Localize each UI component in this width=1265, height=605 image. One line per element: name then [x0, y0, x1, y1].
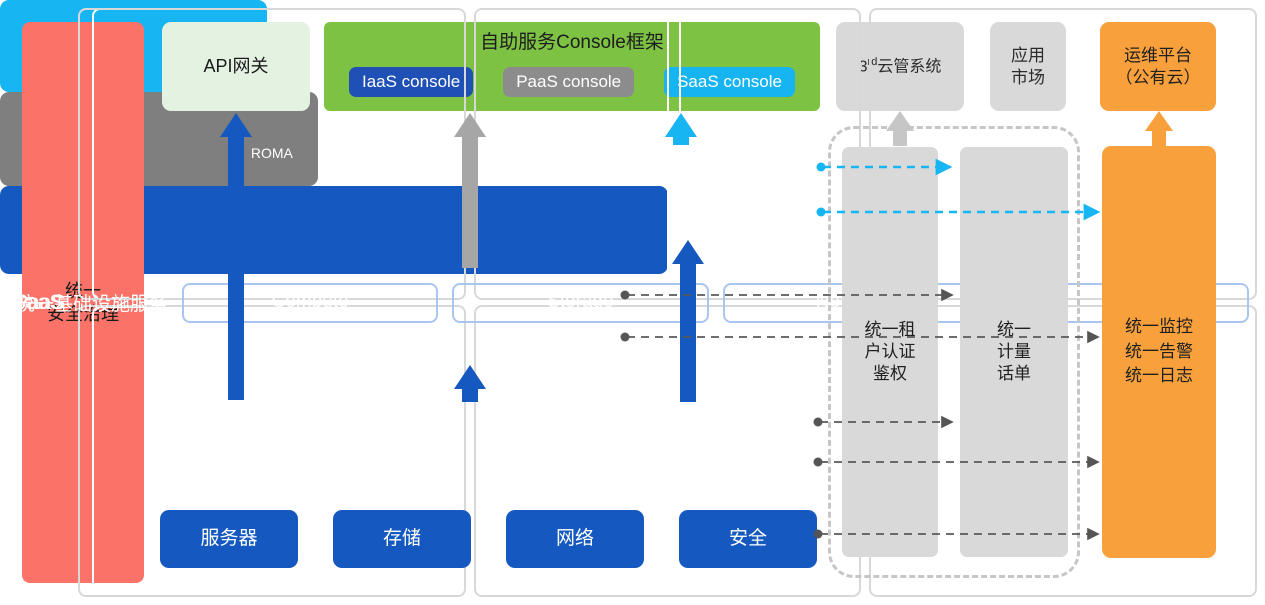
iaas-layer-box: 统一基础设施服务 Compute Storage Network CCE	[0, 186, 668, 274]
meter-line1: 统一	[997, 319, 1031, 341]
unified-tenant-auth-column: 统一租 户认证 鉴权	[842, 147, 938, 557]
architecture-diagram: 统一 安全治理 API网关 自助服务Console框架 IaaS console…	[0, 0, 1265, 605]
ops-right-line3: 统一日志	[1125, 364, 1193, 389]
infra-box-network: 网络	[506, 510, 644, 568]
iaas-service-storage[interactable]: Storage	[452, 283, 708, 323]
meter-line2: 计量	[997, 341, 1031, 363]
unified-metering-column: 统一 计量 话单	[960, 147, 1068, 557]
auth-line2: 户认证	[865, 341, 916, 363]
infra-box-server: 服务器	[160, 510, 298, 568]
unified-monitoring-column: 统一监控 统一告警 统一日志	[1102, 146, 1216, 558]
meter-line3: 话单	[997, 363, 1031, 385]
auth-line1: 统一租	[865, 319, 916, 341]
infra-box-storage: 存储	[333, 510, 471, 568]
iaas-label: 统一基础设施服务	[16, 289, 168, 316]
infra-box-security: 安全	[679, 510, 817, 568]
ops-right-line1: 统一监控	[1125, 315, 1193, 340]
iaas-service-compute[interactable]: Compute	[182, 283, 438, 323]
ops-right-line2: 统一告警	[1125, 340, 1193, 365]
auth-line3: 鉴权	[865, 363, 916, 385]
